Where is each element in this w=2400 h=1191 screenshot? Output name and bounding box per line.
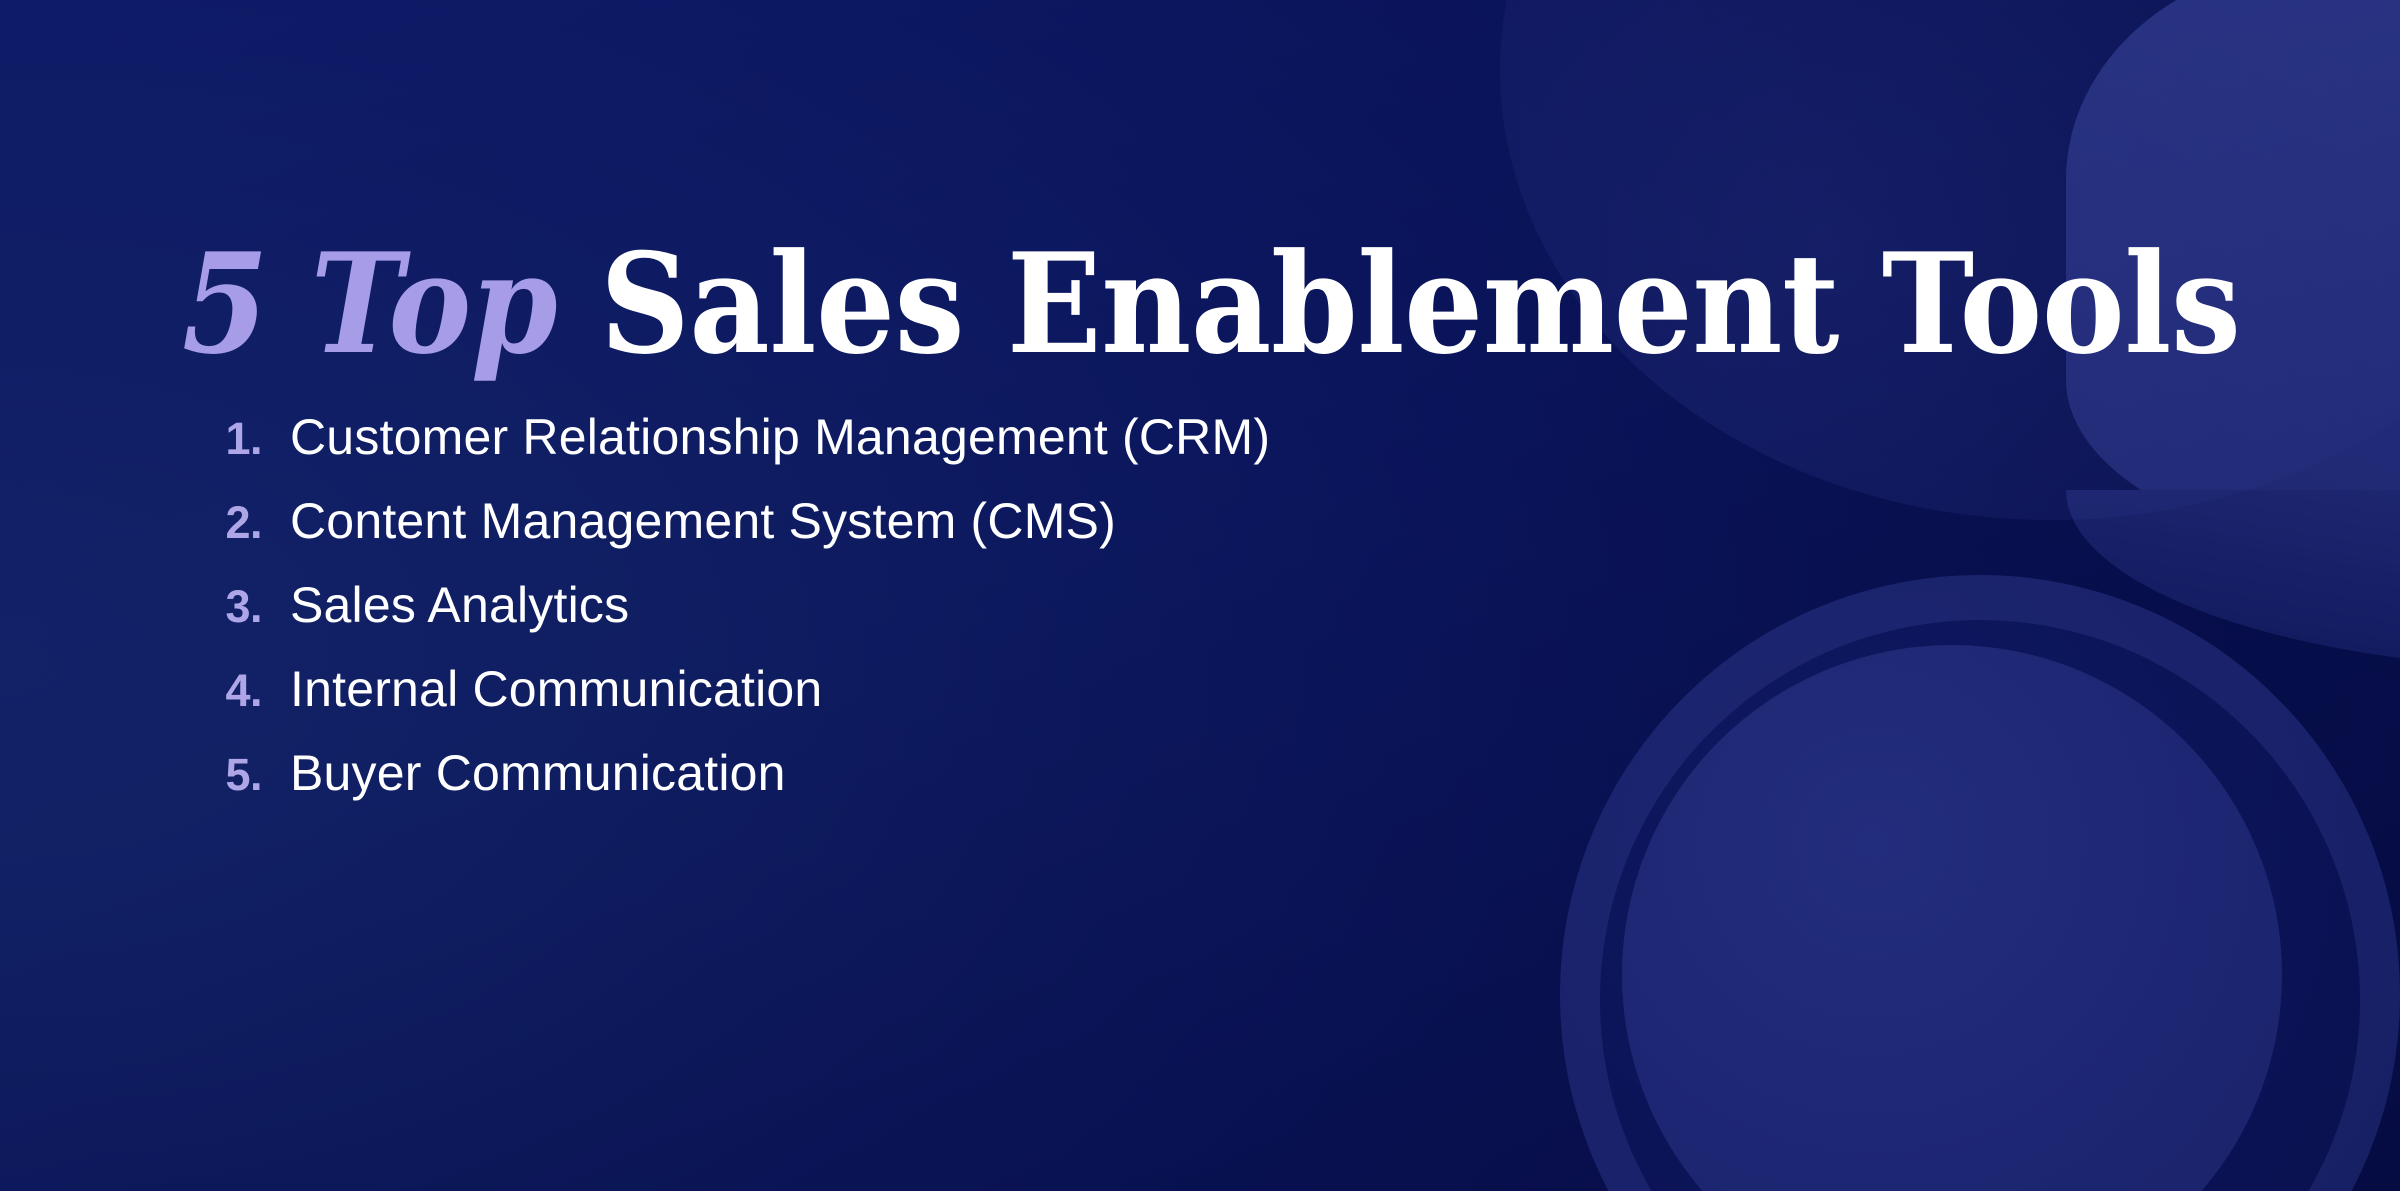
list-item-label: Customer Relationship Management (CRM) [290, 408, 1270, 466]
slide-canvas: 5 Top Sales Enablement Tools 1. Customer… [0, 0, 2400, 1191]
list-item-number: 2. [190, 497, 262, 549]
list-item-label: Buyer Communication [290, 744, 786, 802]
list-item: 1. Customer Relationship Management (CRM… [190, 408, 1270, 492]
page-title-main: Sales Enablement Tools [557, 222, 2240, 385]
list-item-number: 1. [190, 413, 262, 465]
list-item: 3. Sales Analytics [190, 576, 1270, 660]
slide-content: 5 Top Sales Enablement Tools 1. Customer… [0, 0, 2400, 1191]
list-item: 4. Internal Communication [190, 660, 1270, 744]
list-item-label: Sales Analytics [290, 576, 629, 634]
list-item-label: Internal Communication [290, 660, 822, 718]
tools-numbered-list: 1. Customer Relationship Management (CRM… [190, 408, 1270, 828]
list-item-number: 5. [190, 749, 262, 801]
list-item: 5. Buyer Communication [190, 744, 1270, 828]
list-item-number: 4. [190, 665, 262, 717]
list-item-number: 3. [190, 581, 262, 633]
list-item: 2. Content Management System (CMS) [190, 492, 1270, 576]
page-title: 5 Top Sales Enablement Tools [182, 232, 2240, 377]
list-item-label: Content Management System (CMS) [290, 492, 1116, 550]
page-title-accent: 5 Top [182, 222, 557, 385]
